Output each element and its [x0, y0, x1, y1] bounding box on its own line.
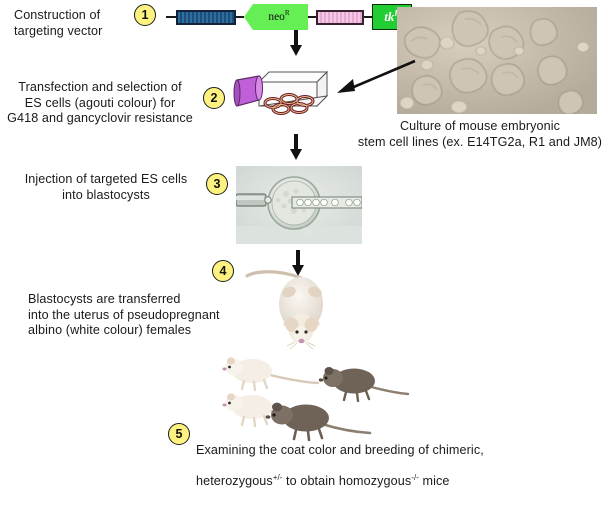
construct-line-left	[166, 16, 176, 18]
neo-superscript: R	[285, 9, 290, 17]
neo-label: neoR	[268, 11, 289, 23]
es-colony-micrograph	[397, 7, 597, 114]
step-5-label: Examining the coat color and breeding of…	[196, 427, 600, 505]
down-arrow-icon	[289, 134, 303, 160]
arrow-step2-to-step3	[289, 134, 303, 165]
chimeric-mouse-image	[245, 270, 355, 350]
step-5-mice-text: mice	[419, 474, 450, 488]
blastocyst-injection-photo	[236, 166, 362, 244]
homology-arm-left-box	[176, 10, 236, 25]
step-5-line-2: heterozygous+/- to obtain homozygous-/- …	[196, 474, 600, 490]
white-mouse-top-view-icon	[245, 270, 355, 350]
neo-resistance-cassette: neoR	[244, 4, 308, 30]
homozygous-superscript: -/-	[411, 472, 419, 481]
diagonal-arrow-icon	[333, 59, 417, 99]
figure-canvas: Construction of targeting vector 1 neoR …	[0, 0, 608, 464]
flask-icon	[233, 68, 329, 118]
step-5-line-1: Examining the coat color and breeding of…	[196, 443, 600, 459]
step-5-obtain-text: to obtain homozygous	[282, 474, 411, 488]
down-arrow-icon	[289, 30, 303, 56]
construct-line-mid-3	[364, 16, 372, 18]
step-4-number: 4	[212, 260, 234, 282]
arrow-step1-to-step2	[289, 30, 303, 61]
step-2-label: Transfection and selection of ES cells (…	[2, 80, 198, 127]
blastocyst-micrograph	[236, 166, 362, 244]
targeting-vector-construct: neoR tkR	[166, 4, 412, 30]
step-3-number: 3	[206, 173, 228, 195]
white-mouse-side-icon	[222, 352, 322, 392]
construct-line-mid-2	[308, 16, 316, 18]
culture-flask-illustration	[233, 68, 329, 123]
step-1-label: Construction of targeting vector	[14, 8, 134, 39]
step-3-label: Injection of targeted ES cells into blas…	[8, 172, 204, 203]
es-culture-photo	[397, 7, 597, 114]
arrow-photo-to-flask	[333, 59, 417, 104]
step-5-number: 5	[168, 423, 190, 445]
heterozygous-superscript: +/-	[273, 472, 283, 481]
agouti-mouse-side-icon	[310, 362, 410, 402]
construct-line-mid-1	[236, 16, 244, 18]
homology-arm-right-box	[316, 10, 364, 25]
es-culture-caption: Culture of mouse embryonic stem cell lin…	[352, 119, 608, 150]
step-2-number: 2	[203, 87, 225, 109]
step-4-label: Blastocysts are transferred into the ute…	[28, 292, 243, 339]
offspring-white-mouse-1	[222, 352, 322, 392]
step-5-hetero-text: heterozygous	[196, 474, 273, 488]
step-1-number: 1	[134, 4, 156, 26]
offspring-agouti-mouse-1	[310, 362, 410, 402]
